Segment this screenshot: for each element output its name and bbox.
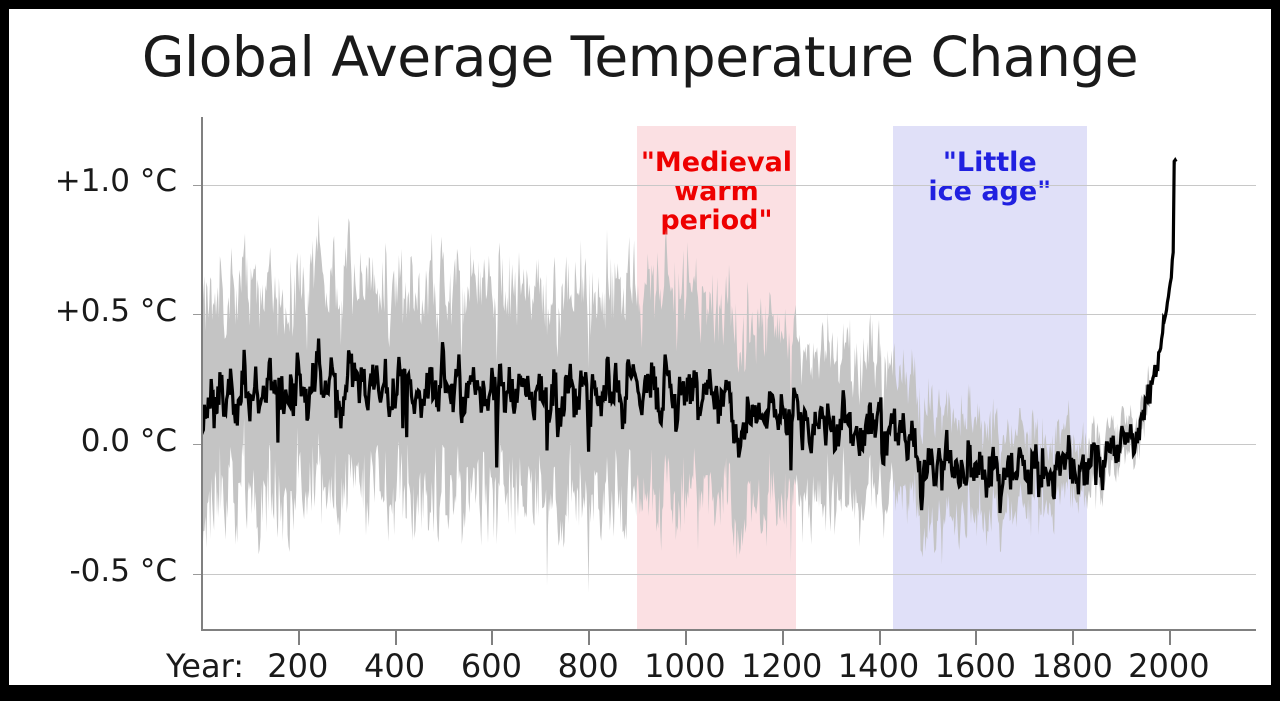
- x-axis-tick-label: 400: [364, 647, 425, 685]
- x-axis-tick: [1072, 631, 1074, 645]
- x-axis-tick-label: 1200: [741, 647, 822, 685]
- x-axis-tick-label: 1800: [1031, 647, 1112, 685]
- y-axis-tick-label: 0.0 °C: [9, 423, 177, 459]
- x-axis-tick: [395, 631, 397, 645]
- plot-area: "Medieval warm period" "Little ice age" …: [201, 117, 1256, 631]
- x-axis-tick: [588, 631, 590, 645]
- x-axis-tick-label: 200: [267, 647, 328, 685]
- x-axis-title: Year:: [166, 647, 244, 685]
- y-axis-tick-label: +0.5 °C: [9, 293, 177, 329]
- y-axis-tick-label: +1.0 °C: [9, 163, 177, 199]
- x-axis-tick-label: 1000: [644, 647, 725, 685]
- x-axis-tick-label: 2000: [1128, 647, 1209, 685]
- figure-frame: Global Average Temperature Change "Medie…: [0, 0, 1280, 701]
- x-axis-tick: [298, 631, 300, 645]
- y-axis-tick-label: -0.5 °C: [9, 553, 177, 589]
- x-axis-tick: [975, 631, 977, 645]
- x-axis-tick-label: 800: [558, 647, 619, 685]
- x-axis-tick: [685, 631, 687, 645]
- x-axis-tick: [1169, 631, 1171, 645]
- y-axis-line: [201, 117, 203, 631]
- x-axis-tick-label: 1400: [838, 647, 919, 685]
- x-axis-tick-label: 1600: [935, 647, 1016, 685]
- x-axis-tick: [879, 631, 881, 645]
- chart-title: Global Average Temperature Change: [9, 25, 1271, 89]
- x-axis-tick: [782, 631, 784, 645]
- series-plot: [201, 117, 1256, 631]
- x-axis-line: [201, 629, 1256, 631]
- figure-canvas: Global Average Temperature Change "Medie…: [9, 9, 1271, 685]
- x-axis-tick-label: 600: [461, 647, 522, 685]
- x-axis-tick: [491, 631, 493, 645]
